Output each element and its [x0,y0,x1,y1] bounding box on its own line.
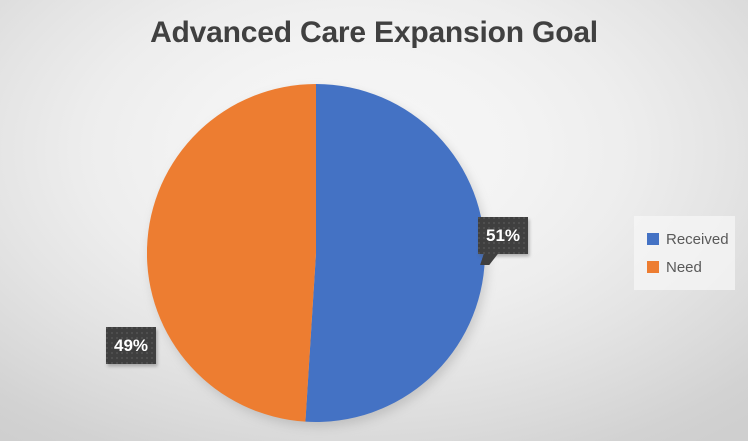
data-label-need: 49% [106,327,156,364]
legend-label-received: Received [666,231,729,248]
legend-label-need: Need [666,259,702,276]
legend-swatch-need-icon [647,261,659,273]
plot-area: 51% 49% [0,0,620,441]
pie-slice-received[interactable] [305,84,485,422]
callout-tail-icon [480,254,498,265]
pie-slice-need[interactable] [147,84,316,422]
data-label-received-text: 51% [486,227,520,244]
chart-legend: Received Need [634,216,735,290]
pie-chart-canvas: Advanced Care Expansion Goal 51% 49% Rec… [0,0,748,441]
legend-item-need[interactable]: Need [647,253,735,281]
data-label-received: 51% [478,217,528,254]
pie-graphic [147,84,485,422]
pie-wrapper [147,84,485,422]
legend-swatch-received-icon [647,233,659,245]
legend-item-received[interactable]: Received [647,225,735,253]
data-label-need-text: 49% [114,337,148,354]
